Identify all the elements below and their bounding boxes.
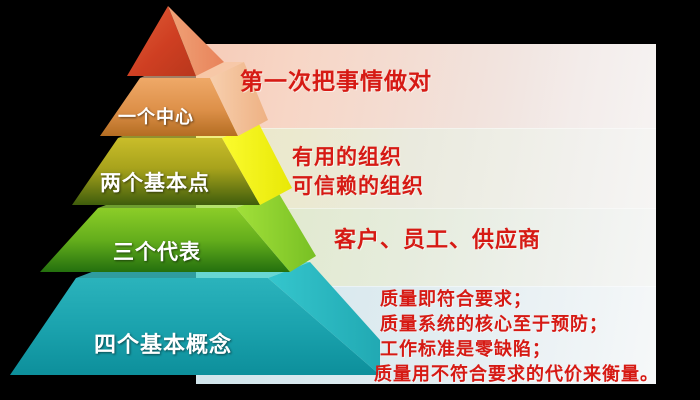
description-row-4-line-4: 质量用不符合要求的代价来衡量。 <box>374 360 659 386</box>
description-row-4-line-2: 质量系统的核心至于预防； <box>380 310 608 336</box>
description-row-4-line-1: 质量即符合要求； <box>380 285 532 311</box>
tier-label-four-basic-concepts: 四个基本概念 <box>94 327 232 359</box>
tier-label-one-center: 一个中心 <box>118 103 194 129</box>
tier-label-two-basic-points: 两个基本点 <box>100 167 210 197</box>
description-row-4-line-3: 工作标准是零缺陷； <box>380 335 551 361</box>
description-row-3-line-1: 客户、员工、供应商 <box>334 222 541 254</box>
pyramid-infographic: 一个中心 两个基本点 三个代表 四个基本概念 第一次把事情做对 有用的组织 可信… <box>0 0 700 400</box>
description-row-2-line-1: 有用的组织 <box>292 141 402 171</box>
description-row-2-line-2: 可信赖的组织 <box>292 170 424 200</box>
tier-label-three-represents: 三个代表 <box>113 236 201 266</box>
description-row-1-line-1: 第一次把事情做对 <box>240 62 432 96</box>
